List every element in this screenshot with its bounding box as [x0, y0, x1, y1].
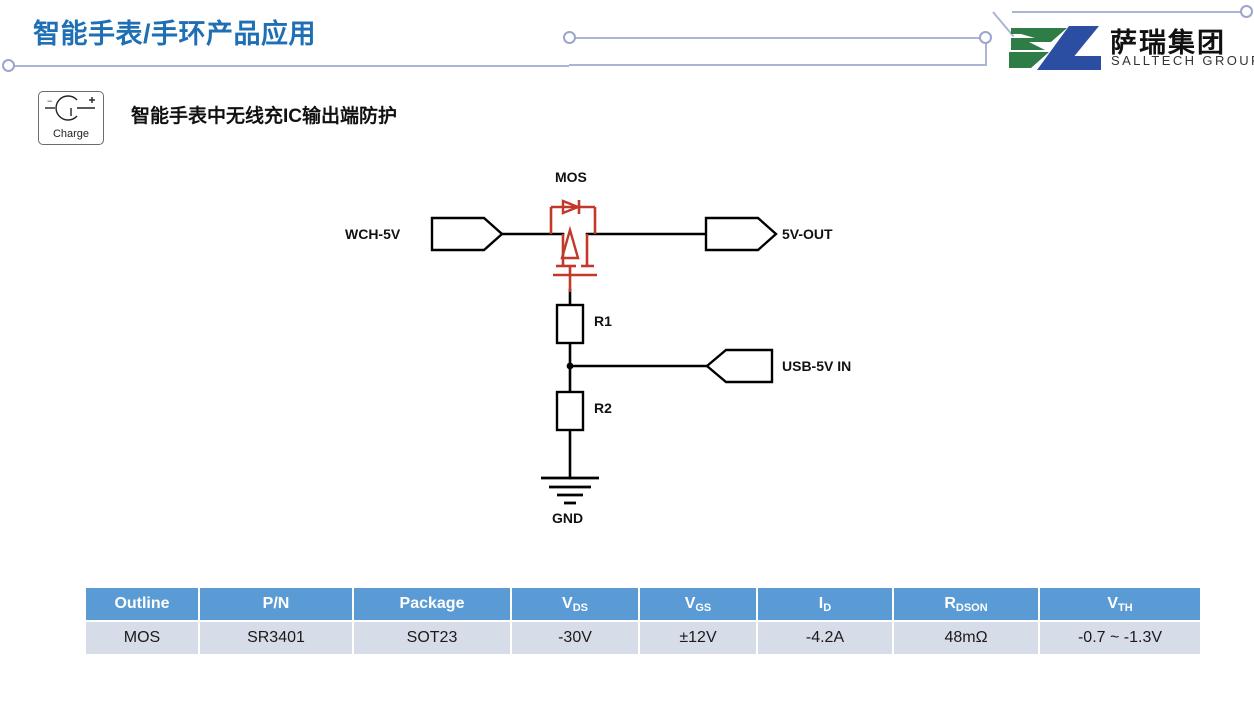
cell-rdson: 48mΩ — [894, 622, 1038, 654]
ground-label: GND — [552, 510, 583, 526]
port-usb-5v-in-shape — [707, 350, 772, 382]
cell-vth: -0.7 ~ -1.3V — [1040, 622, 1200, 654]
resistor-r2-body — [557, 392, 583, 430]
mos-label: MOS — [555, 169, 587, 185]
port-wch-5v-shape — [432, 218, 502, 250]
port-5v-out-shape — [706, 218, 776, 250]
col-header-vth: VTH — [1040, 588, 1200, 620]
ground-symbol — [541, 478, 599, 503]
junction-dot-mid — [567, 363, 574, 370]
col-header-outline: Outline — [86, 588, 198, 620]
cell-package: SOT23 — [354, 622, 510, 654]
resistor-r2-label: R2 — [594, 400, 612, 416]
col-header-vds: VDS — [512, 588, 638, 620]
col-header-vgs: VGS — [640, 588, 756, 620]
resistor-r1-label: R1 — [594, 313, 612, 329]
mosfet-symbol — [551, 207, 597, 292]
table-header-row: Outline P/N Package VDS VGS ID RDSON VTH — [86, 588, 1200, 620]
col-header-id: ID — [758, 588, 892, 620]
col-header-pn: P/N — [200, 588, 352, 620]
cell-id: -4.2A — [758, 622, 892, 654]
cell-pn: SR3401 — [200, 622, 352, 654]
slide-canvas: 智能手表/手环产品应用 萨瑞集团 SALLTECH GROUP − Char — [0, 0, 1254, 706]
table-row: MOS SR3401 SOT23 -30V ±12V -4.2A 48mΩ -0… — [86, 622, 1200, 654]
resistor-r1-body — [557, 305, 583, 343]
cell-vds: -30V — [512, 622, 638, 654]
cell-vgs: ±12V — [640, 622, 756, 654]
mosfet-bulk-arrow — [562, 230, 578, 258]
cell-outline: MOS — [86, 622, 198, 654]
port-5v-out-label: 5V-OUT — [782, 226, 833, 242]
col-header-rdson: RDSON — [894, 588, 1038, 620]
port-wch-5v-label: WCH-5V — [345, 226, 400, 242]
port-usb-5v-in-label: USB-5V IN — [782, 358, 851, 374]
spec-table: Outline P/N Package VDS VGS ID RDSON VTH… — [84, 586, 1202, 656]
col-header-package: Package — [354, 588, 510, 620]
